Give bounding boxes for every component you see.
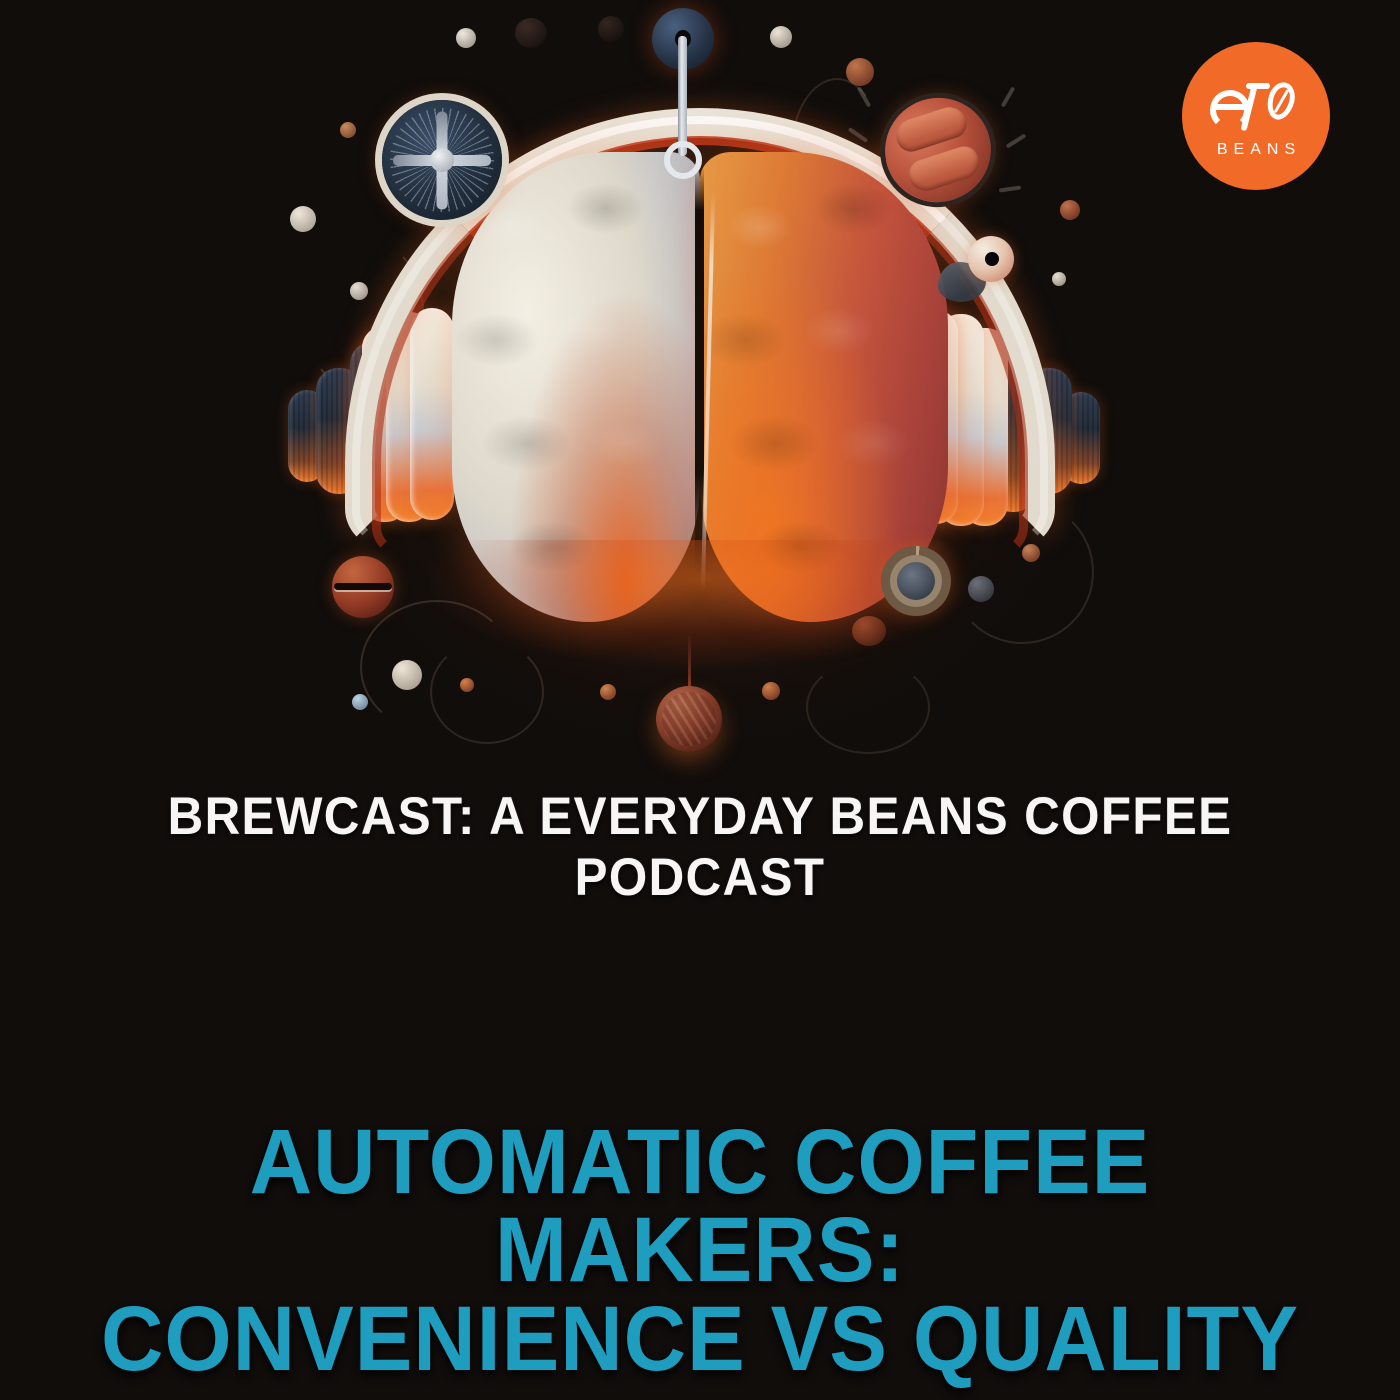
eyeball-orb-icon (968, 236, 1014, 282)
show-subtitle: BREWCAST: A EVERYDAY BEANS COFFEE PODCAS… (49, 786, 1351, 908)
coffee-bean-round-icon (332, 556, 394, 618)
scatter-orb (762, 682, 780, 700)
compass-gauge-icon (382, 100, 502, 220)
scatter-orb (290, 206, 316, 232)
hanger-rod (678, 36, 687, 156)
hanger-ring-icon (664, 141, 702, 179)
brain-left-hemisphere (452, 152, 700, 622)
tick-mark (1006, 133, 1027, 148)
scatter-orb (600, 684, 616, 700)
scatter-orb (515, 18, 547, 48)
decorative-wire (430, 640, 544, 744)
pendulum-sphere-icon (656, 686, 722, 752)
tick-mark (999, 185, 1021, 192)
episode-title-line-1: AUTOMATIC COFFEE MAKERS: (42, 1118, 1358, 1295)
logo-letter-e-bar (1213, 104, 1247, 110)
scatter-orb (598, 16, 624, 42)
scatter-orb (1060, 200, 1080, 220)
logo-letter-v-top (1246, 83, 1270, 89)
scatter-orb (340, 122, 356, 138)
scatter-orb (352, 694, 368, 710)
split-brain (452, 152, 948, 622)
episode-title-line-2: CONVENIENCE VS QUALITY (42, 1295, 1358, 1383)
episode-title: AUTOMATIC COFFEE MAKERS: CONVENIENCE VS … (42, 1118, 1358, 1383)
decorative-wire (806, 660, 930, 754)
logo-wordmark: BEANS (1211, 141, 1301, 159)
scatter-orb (1052, 272, 1066, 286)
podcast-cover-art: BREWCAST: A EVERYDAY BEANS COFFEE PODCAS… (0, 0, 1400, 1400)
gear-cog-icon (881, 546, 951, 616)
tick-mark (1001, 86, 1015, 107)
pendulum-line (688, 636, 691, 690)
scatter-orb (770, 26, 792, 48)
scatter-orb (456, 28, 476, 48)
everyday-beans-logo[interactable]: BEANS (1182, 42, 1330, 190)
logo-mark (1210, 78, 1302, 132)
